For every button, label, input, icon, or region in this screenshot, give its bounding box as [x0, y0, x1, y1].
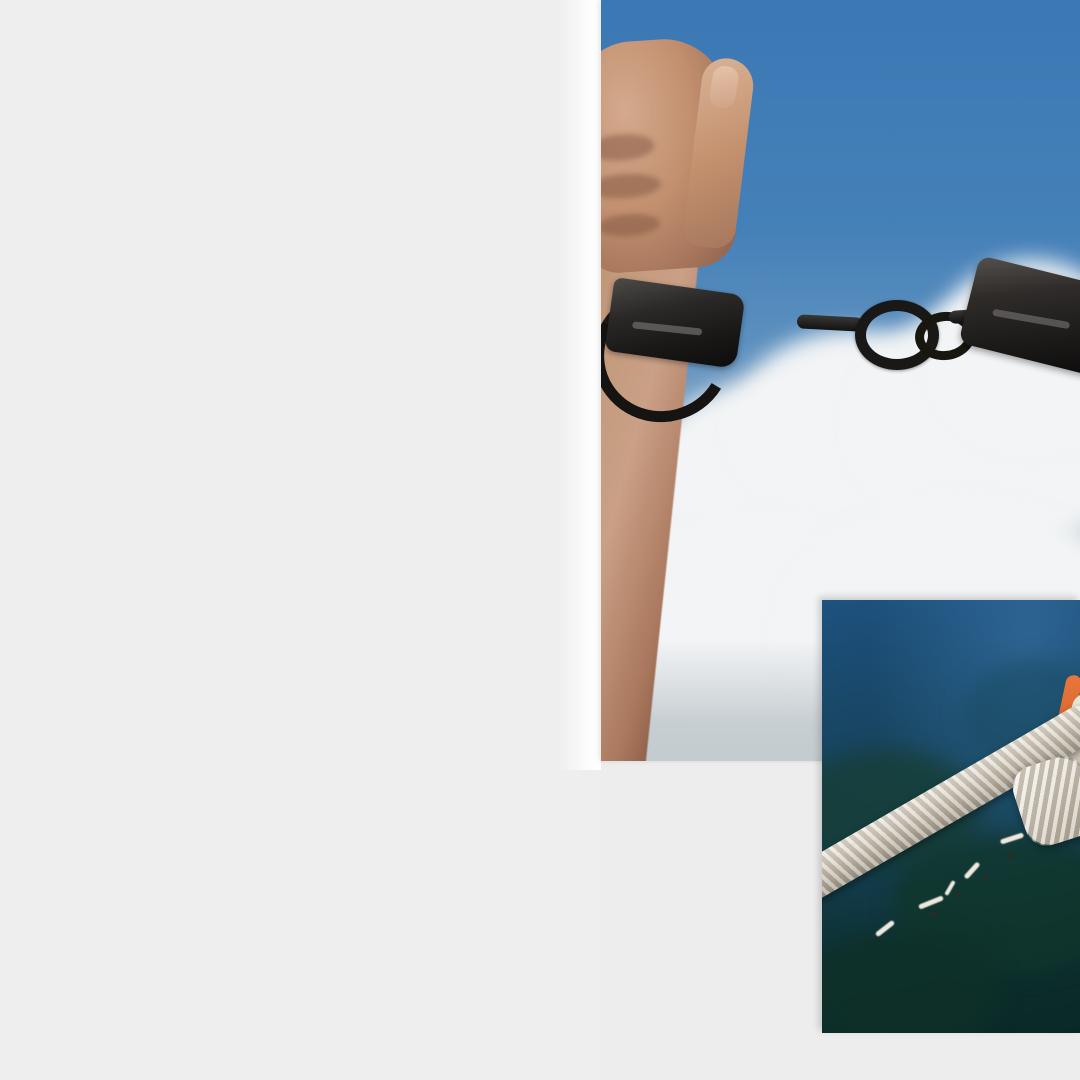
- presentation-slide: НЬ ением в тировании: [0, 0, 1080, 1080]
- knuckle-shadow: [601, 172, 662, 201]
- subtitle-line-1: ением в: [0, 556, 292, 630]
- rope-speck: [1008, 854, 1013, 859]
- frayed-rope-water-photo: [822, 600, 1080, 1033]
- subtitle-line-2: тировании: [0, 630, 292, 704]
- panel-edge-highlight: [559, 0, 601, 770]
- text-panel: [0, 0, 601, 1080]
- slide-subtitle: ением в тировании: [0, 556, 292, 704]
- page-title: НЬ: [0, 296, 224, 365]
- knuckle-shadow: [601, 132, 655, 163]
- rope-speck: [956, 892, 961, 897]
- knuckle-shadow: [601, 212, 661, 238]
- rope-speck: [982, 876, 988, 880]
- rope-speck: [930, 912, 936, 917]
